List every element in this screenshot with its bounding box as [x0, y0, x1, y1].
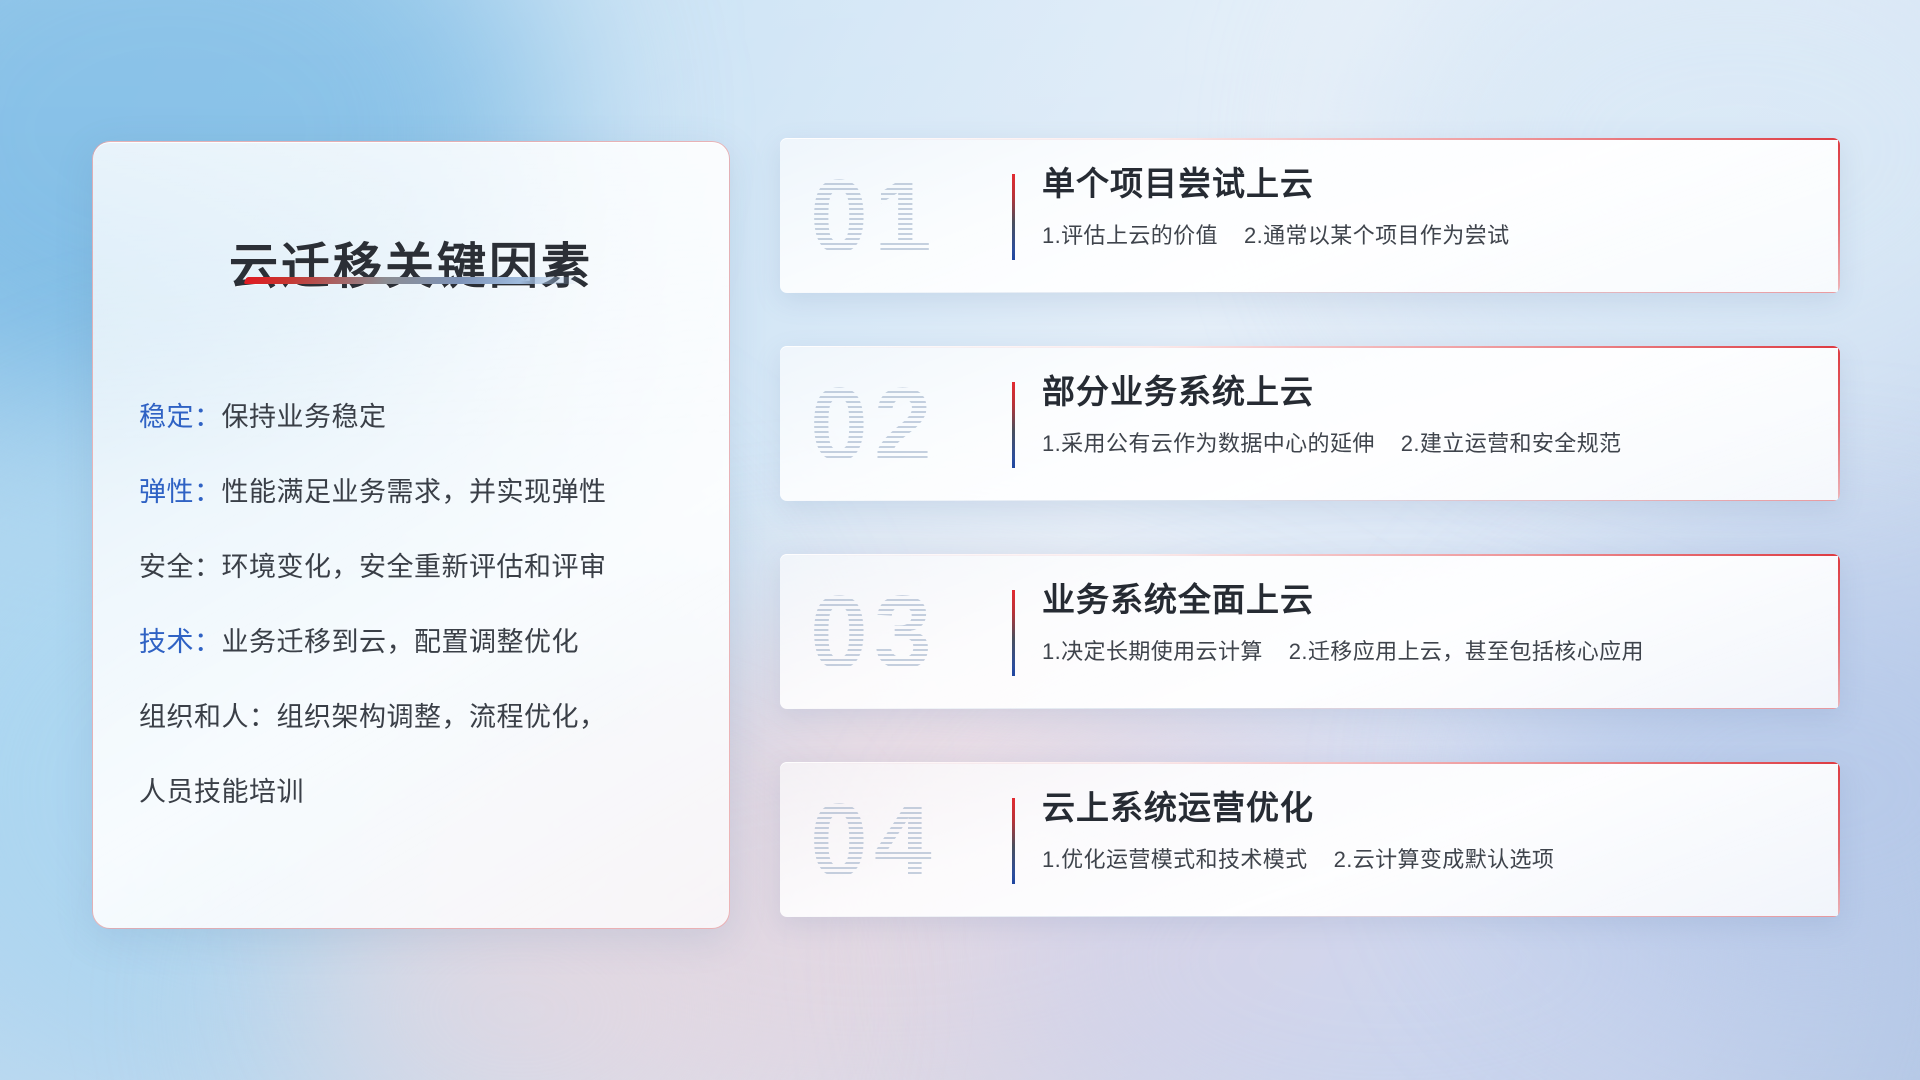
- card-right-accent-line: [1838, 762, 1840, 917]
- step-divider-bar: [1012, 798, 1015, 884]
- step-number-text: 04: [810, 782, 938, 900]
- card-right-accent-line: [1838, 554, 1840, 709]
- step-description-part-1: 1.采用公有云作为数据中心的延伸: [1042, 431, 1375, 456]
- step-description-part-2: 2.迁移应用上云，甚至包括核心应用: [1289, 639, 1644, 664]
- factor-value: 保持业务稳定: [222, 402, 387, 432]
- step-text-block: 业务系统全面上云 1.决定长期使用云计算2.迁移应用上云，甚至包括核心应用: [1042, 576, 1800, 668]
- step-title: 云上系统运营优化: [1042, 784, 1800, 832]
- factor-label: 弹性：: [139, 477, 222, 507]
- step-description-part-2: 2.云计算变成默认选项: [1334, 847, 1555, 872]
- step-divider-bar: [1012, 174, 1015, 260]
- step-card-02[interactable]: 02 部分业务系统上云 1.采用公有云作为数据中心的延伸2.建立运营和安全规范: [780, 346, 1840, 501]
- migration-steps-list: 01 单个项目尝试上云 1.评估上云的价值2.通常以某个项目作为尝试 02 部分…: [780, 138, 1840, 917]
- factor-row: 稳定：保持业务稳定: [139, 380, 701, 455]
- factor-label: 稳定：: [139, 402, 222, 432]
- factor-label: 组织和人：: [139, 702, 277, 732]
- factor-value: 业务迁移到云，配置调整优化: [222, 627, 580, 657]
- factor-row: 组织和人：组织架构调整，流程优化，: [139, 680, 701, 755]
- step-number-watermark: 01: [810, 158, 1000, 276]
- step-text-block: 部分业务系统上云 1.采用公有云作为数据中心的延伸2.建立运营和安全规范: [1042, 368, 1800, 460]
- card-bottom-line: [780, 708, 1840, 709]
- step-description-part-2: 2.通常以某个项目作为尝试: [1244, 223, 1510, 248]
- step-number-watermark: 02: [810, 366, 1000, 484]
- factor-row: 安全：环境变化，安全重新评估和评审: [139, 530, 701, 605]
- step-number-watermark: 03: [810, 574, 1000, 692]
- step-description-part-1: 1.评估上云的价值: [1042, 223, 1218, 248]
- factor-label: 安全：: [139, 552, 222, 582]
- step-text-block: 单个项目尝试上云 1.评估上云的价值2.通常以某个项目作为尝试: [1042, 160, 1800, 252]
- card-top-accent-line: [780, 138, 1840, 140]
- step-number-watermark: 04: [810, 782, 1000, 900]
- step-divider-bar: [1012, 382, 1015, 468]
- factor-list: 稳定：保持业务稳定 弹性：性能满足业务需求，并实现弹性 安全：环境变化，安全重新…: [139, 380, 701, 830]
- step-description: 1.采用公有云作为数据中心的延伸2.建立运营和安全规范: [1042, 428, 1800, 460]
- step-description-part-1: 1.决定长期使用云计算: [1042, 639, 1263, 664]
- title-underline-rule: [243, 277, 582, 284]
- key-factors-panel: 云迁移关键因素 稳定：保持业务稳定 弹性：性能满足业务需求，并实现弹性 安全：环…: [92, 141, 730, 929]
- factor-label: 技术：: [139, 627, 222, 657]
- factor-row: 弹性：性能满足业务需求，并实现弹性: [139, 455, 701, 530]
- factor-value: 组织架构调整，流程优化，: [277, 702, 607, 732]
- step-divider-bar: [1012, 590, 1015, 676]
- step-card-01[interactable]: 01 单个项目尝试上云 1.评估上云的价值2.通常以某个项目作为尝试: [780, 138, 1840, 293]
- card-top-accent-line: [780, 762, 1840, 764]
- factor-row: 技术：业务迁移到云，配置调整优化: [139, 605, 701, 680]
- card-bottom-line: [780, 292, 1840, 293]
- card-bottom-line: [780, 500, 1840, 501]
- step-description: 1.决定长期使用云计算2.迁移应用上云，甚至包括核心应用: [1042, 636, 1800, 668]
- step-title: 部分业务系统上云: [1042, 368, 1800, 416]
- slide-stage: 云迁移关键因素 稳定：保持业务稳定 弹性：性能满足业务需求，并实现弹性 安全：环…: [0, 0, 1920, 1080]
- factor-value: 性能满足业务需求，并实现弹性: [222, 477, 607, 507]
- card-right-accent-line: [1838, 346, 1840, 501]
- card-top-accent-line: [780, 346, 1840, 348]
- step-number-text: 01: [810, 158, 938, 276]
- step-title: 业务系统全面上云: [1042, 576, 1800, 624]
- step-number-text: 03: [810, 574, 938, 692]
- factor-value-continued: 人员技能培训: [139, 755, 701, 830]
- step-description: 1.评估上云的价值2.通常以某个项目作为尝试: [1042, 220, 1800, 252]
- step-card-04[interactable]: 04 云上系统运营优化 1.优化运营模式和技术模式2.云计算变成默认选项: [780, 762, 1840, 917]
- card-bottom-line: [780, 916, 1840, 917]
- step-description: 1.优化运营模式和技术模式2.云计算变成默认选项: [1042, 844, 1800, 876]
- factor-value: 环境变化，安全重新评估和评审: [222, 552, 607, 582]
- step-text-block: 云上系统运营优化 1.优化运营模式和技术模式2.云计算变成默认选项: [1042, 784, 1800, 876]
- step-title: 单个项目尝试上云: [1042, 160, 1800, 208]
- card-right-accent-line: [1838, 138, 1840, 293]
- page-title: 云迁移关键因素: [93, 227, 729, 298]
- step-description-part-2: 2.建立运营和安全规范: [1401, 431, 1622, 456]
- step-number-text: 02: [810, 366, 938, 484]
- step-description-part-1: 1.优化运营模式和技术模式: [1042, 847, 1308, 872]
- step-card-03[interactable]: 03 业务系统全面上云 1.决定长期使用云计算2.迁移应用上云，甚至包括核心应用: [780, 554, 1840, 709]
- card-top-accent-line: [780, 554, 1840, 556]
